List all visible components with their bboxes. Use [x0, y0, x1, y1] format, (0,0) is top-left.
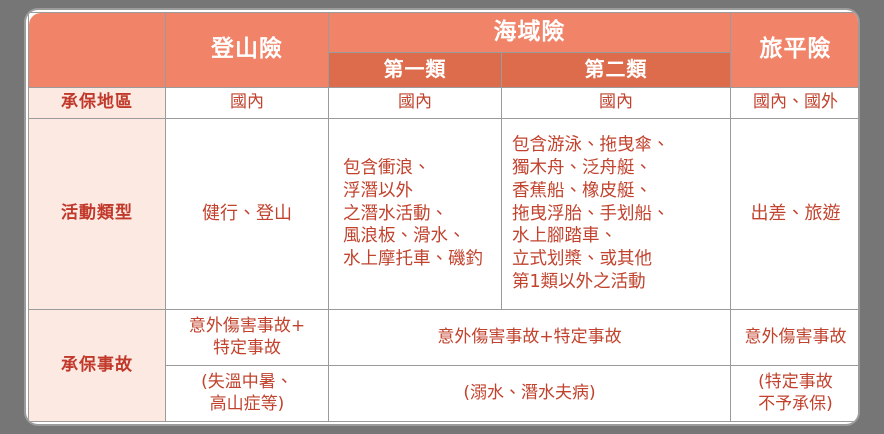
row-label-coverage-area: 承保地區: [29, 87, 166, 118]
cell-coverage-area-mountain: 國內: [166, 87, 329, 118]
cell-activity-mountain: 健行、登山: [166, 118, 329, 310]
header-col-travel: 旅平險: [731, 13, 861, 88]
text-line: (特定事故: [735, 372, 856, 393]
table-header-row-primary: 登山險 海域險 旅平險: [29, 13, 861, 53]
cell-accident-note-sea: (溺水、潛水夫病): [329, 366, 731, 422]
text-line: 拖曳浮胎、手划船、: [512, 203, 726, 226]
header-group-sea: 海域險: [329, 13, 731, 53]
text-line: 意外傷害事故+: [170, 316, 324, 337]
header-col-sea-type1: 第一類: [329, 52, 502, 87]
cell-coverage-area-travel: 國內、國外: [731, 87, 861, 118]
text-line: 包含衝浪、: [343, 157, 497, 180]
cell-coverage-area-sea2: 國內: [502, 87, 731, 118]
cell-activity-sea1: 包含衝浪、浮潛以外之潛水活動、風浪板、滑水、水上摩托車、磯釣: [329, 118, 502, 310]
row-label-covered-accident: 承保事故: [29, 310, 166, 422]
table-row-coverage-area: 承保地區 國內 國內 國內 國內、國外: [29, 87, 861, 118]
text-line: 香蕉船、橡皮艇、: [512, 180, 726, 203]
cell-accident-note-mountain: (失溫中暑、高山症等): [166, 366, 329, 422]
text-line: 立式划槳、或其他: [512, 248, 726, 271]
page-background: 登山險 海域險 旅平險 第一類 第二類 承保地區 國內 國內 國內 國內、國外: [0, 0, 884, 434]
text-line: 浮潛以外: [343, 180, 497, 203]
cell-accident-note-travel: (特定事故不予承保): [731, 366, 861, 422]
text-line: (失溫中暑、: [170, 372, 324, 393]
insurance-comparison-table: 登山險 海域險 旅平險 第一類 第二類 承保地區 國內 國內 國內 國內、國外: [28, 12, 860, 422]
text-line: 不予承保): [735, 394, 856, 415]
cell-activity-travel: 出差、旅遊: [731, 118, 861, 310]
text-line: 高山症等): [170, 394, 324, 415]
table-row-activity-type: 活動類型 健行、登山 包含衝浪、浮潛以外之潛水活動、風浪板、滑水、水上摩托車、磯…: [29, 118, 861, 310]
cell-coverage-area-sea1: 國內: [329, 87, 502, 118]
text-line: 水上摩托車、磯釣: [343, 248, 497, 271]
text-line: 特定事故: [170, 338, 324, 359]
text-line: 之潛水活動、: [343, 203, 497, 226]
text-line: 水上腳踏車、: [512, 225, 726, 248]
cell-accident-travel: 意外傷害事故: [731, 310, 861, 366]
row-label-activity-type: 活動類型: [29, 118, 166, 310]
text-line: 包含游泳、拖曳傘、: [512, 134, 726, 157]
cell-activity-sea2: 包含游泳、拖曳傘、獨木舟、泛舟艇、香蕉船、橡皮艇、拖曳浮胎、手划船、水上腳踏車、…: [502, 118, 731, 310]
header-corner-blank: [29, 13, 166, 88]
text-line: 獨木舟、泛舟艇、: [512, 157, 726, 180]
cell-accident-sea: 意外傷害事故+特定事故: [329, 310, 731, 366]
table-row-covered-accident-primary: 承保事故 意外傷害事故+特定事故 意外傷害事故+特定事故 意外傷害事故: [29, 310, 861, 366]
header-col-mountain: 登山險: [166, 13, 329, 88]
text-line: 風浪板、滑水、: [343, 225, 497, 248]
cell-accident-mountain: 意外傷害事故+特定事故: [166, 310, 329, 366]
header-col-sea-type2: 第二類: [502, 52, 731, 87]
text-line: 第1類以外之活動: [512, 271, 726, 294]
comparison-table-frame: 登山險 海域險 旅平險 第一類 第二類 承保地區 國內 國內 國內 國內、國外: [24, 8, 860, 426]
